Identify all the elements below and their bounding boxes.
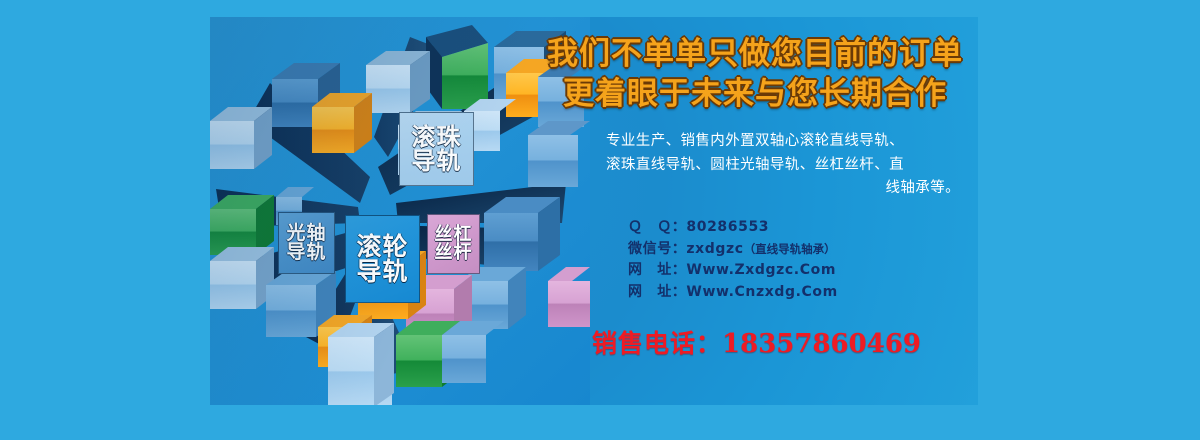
headline-line-2: 更着眼于未来与您长期合作 (540, 75, 970, 115)
contact-row-website-1: 网 址：Www.Zxdgzc.Com (628, 260, 970, 282)
headline: 我们不单单只做您目前的订单 更着眼于未来与您长期合作 (540, 35, 970, 114)
chip-line-2: 导轨 (412, 149, 462, 173)
sales-phone-label: 销售电话： (592, 329, 722, 358)
chip-line-2: 导轨 (356, 259, 408, 285)
contact-label-wechat: 微信号： (628, 241, 686, 257)
sales-phone[interactable]: 销售电话：18357860469 (540, 324, 970, 360)
chip-line-1: 滚珠 (412, 125, 462, 149)
product-chip-guangzhou-daogui[interactable]: 光轴 导轨 (278, 212, 335, 274)
contact-note-wechat: （直线导轨轴承） (744, 242, 836, 256)
contact-value-qq[interactable]: 80286553 (686, 219, 769, 235)
page-root: 滚珠 导轨 光轴 导轨 滚轮 导轨 丝杠 丝杆 我们不单单只做您目前的订单 更着… (0, 0, 1200, 440)
description: 专业生产、销售内外置双轴心滚轮直线导轨、 滚珠直线导轨、圆柱光轴导轨、丝杠丝杆、… (540, 130, 970, 200)
contact-value-website-2[interactable]: Www.Cnzxdg.Com (686, 284, 837, 300)
contact-block: Ｑ Ｑ：80286553 微信号：zxdgzc（直线导轨轴承） 网 址：Www.… (540, 217, 970, 304)
chip-line-1: 滚轮 (356, 234, 408, 260)
contact-label-website-2: 网 址： (628, 284, 686, 300)
banner-copy-column: 我们不单单只做您目前的订单 更着眼于未来与您长期合作 专业生产、销售内外置双轴心… (540, 35, 970, 395)
contact-value-wechat[interactable]: zxdgzc (686, 241, 743, 257)
description-line-2: 滚珠直线导轨、圆柱光轴导轨、丝杠丝杆、直 (546, 154, 964, 177)
exploding-cubes-artwork (210, 17, 590, 405)
description-line-3: 线轴承等。 (546, 177, 964, 200)
contact-label-qq: Ｑ Ｑ： (628, 219, 686, 235)
promo-banner: 滚珠 导轨 光轴 导轨 滚轮 导轨 丝杠 丝杆 我们不单单只做您目前的订单 更着… (210, 17, 978, 405)
product-chip-gunlun-daogui[interactable]: 滚轮 导轨 (345, 215, 420, 303)
contact-row-wechat: 微信号：zxdgzc（直线导轨轴承） (628, 239, 970, 261)
contact-value-website-1[interactable]: Www.Zxdgzc.Com (686, 262, 836, 278)
contact-row-website-2: 网 址：Www.Cnzxdg.Com (628, 282, 970, 304)
sales-phone-number[interactable]: 18357860469 (722, 329, 921, 359)
contact-row-qq: Ｑ Ｑ：80286553 (628, 217, 970, 239)
chip-line-2: 丝杆 (435, 244, 473, 262)
description-line-1: 专业生产、销售内外置双轴心滚轮直线导轨、 (546, 130, 964, 153)
chip-line-2: 导轨 (286, 243, 326, 262)
headline-line-1: 我们不单单只做您目前的订单 (547, 36, 963, 72)
product-chip-sigang-sigan[interactable]: 丝杠 丝杆 (427, 214, 480, 274)
product-chip-gunzhu-daogui[interactable]: 滚珠 导轨 (399, 112, 474, 186)
contact-label-website-1: 网 址： (628, 262, 686, 278)
